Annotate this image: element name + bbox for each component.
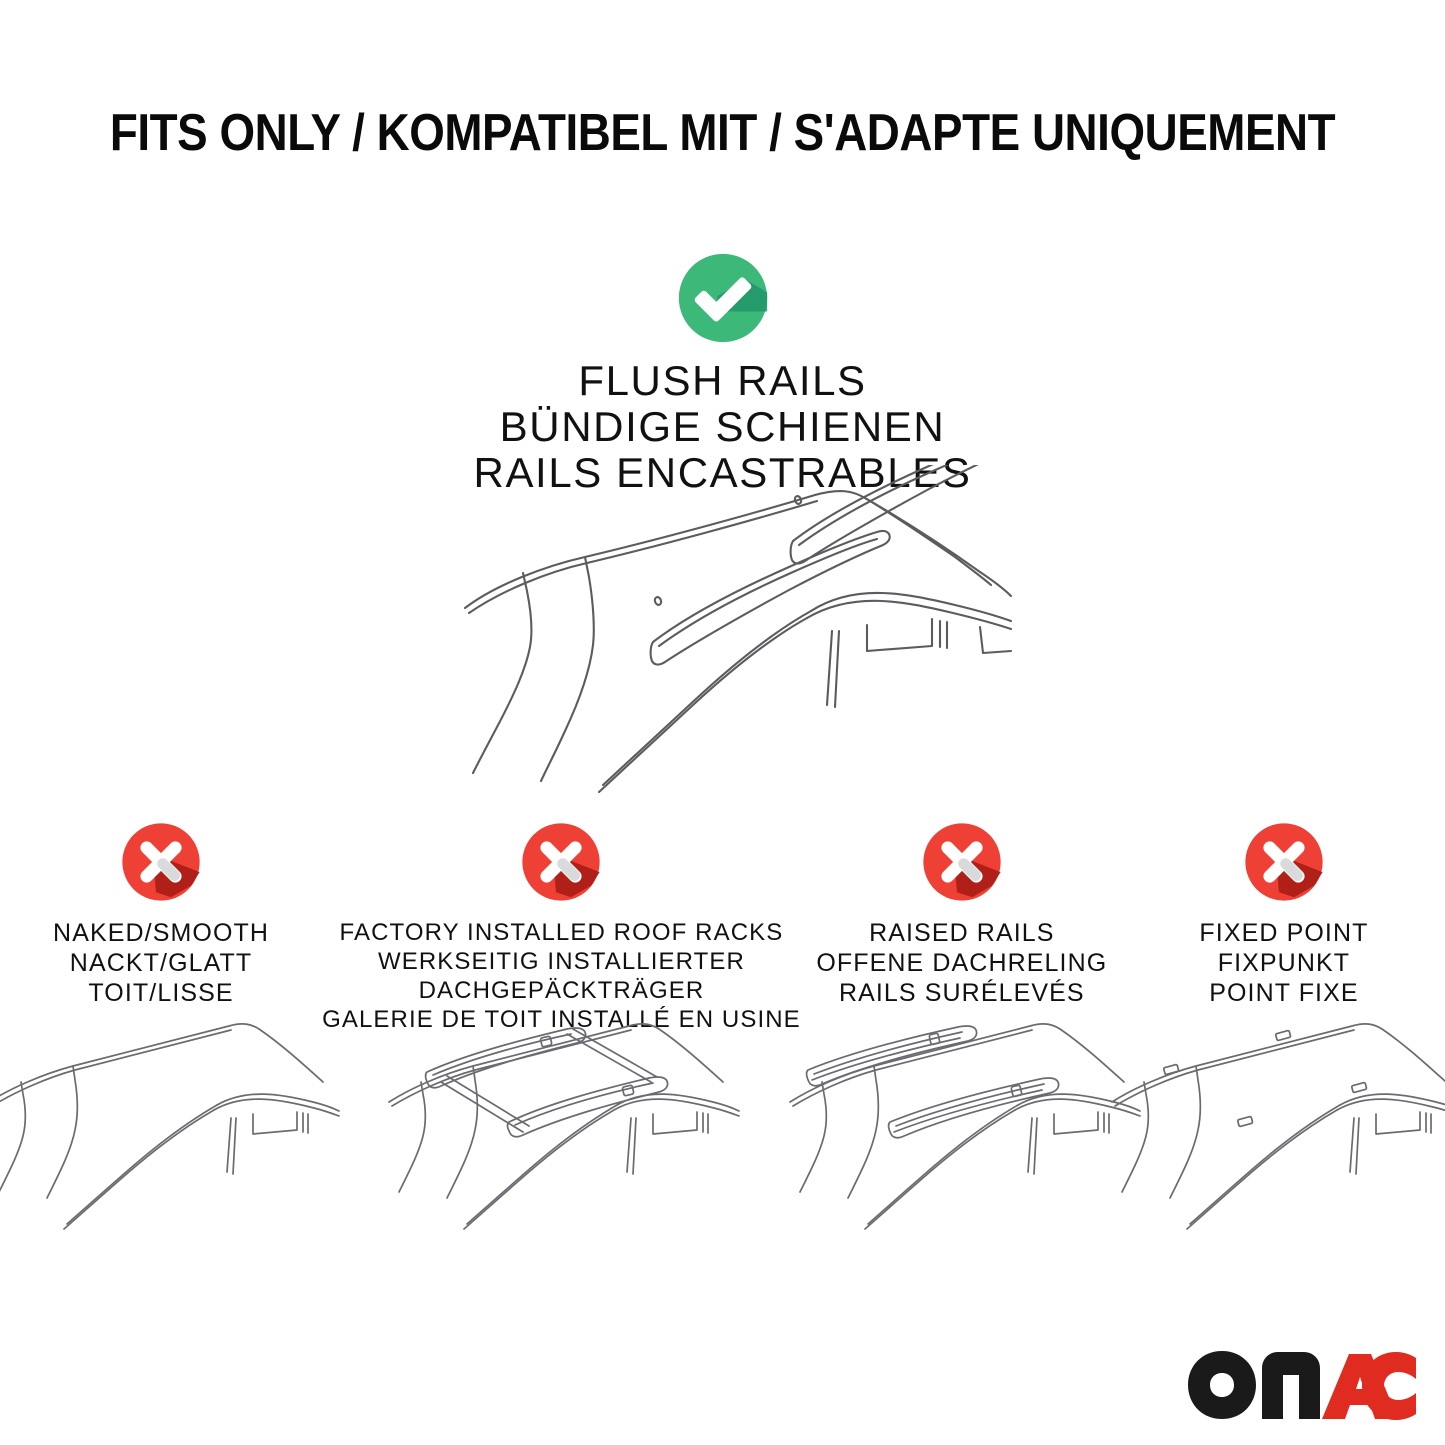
option-labels: RAISED RAILS OFFENE DACHRELING RAILS SUR… bbox=[816, 918, 1107, 1008]
option-raised-rails: RAISED RAILS OFFENE DACHRELING RAILS SUR… bbox=[801, 820, 1123, 1008]
compatible-label-en: FLUSH RAILS bbox=[0, 358, 1445, 404]
omac-logo bbox=[1186, 1348, 1418, 1422]
page-title: FITS ONLY / KOMPATIBEL MIT / S'ADAPTE UN… bbox=[87, 103, 1359, 163]
option-factory-roof-racks: FACTORY INSTALLED ROOF RACKS WERKSEITIG … bbox=[322, 820, 801, 1034]
option-label-en: FACTORY INSTALLED ROOF RACKS bbox=[322, 918, 801, 947]
option-fixed-point: FIXED POINT FIXPUNKT POINT FIXE bbox=[1123, 820, 1445, 1008]
x-circle-icon bbox=[920, 820, 1004, 904]
option-label-en: FIXED POINT bbox=[1199, 918, 1368, 948]
car-roof-fixed-point-illustration bbox=[1104, 1010, 1445, 1240]
option-label-en: RAISED RAILS bbox=[816, 918, 1107, 948]
x-circle-icon bbox=[1242, 820, 1326, 904]
car-roof-raised-rails-illustration bbox=[782, 1010, 1142, 1240]
option-label-fr: POINT FIXE bbox=[1199, 978, 1368, 1008]
car-roof-flush-rails-illustration bbox=[435, 465, 1015, 795]
option-label-de: OFFENE DACHRELING bbox=[816, 948, 1107, 978]
option-label-de-2: DACHGEPÄCKTRÄGER bbox=[322, 976, 801, 1005]
x-circle-icon bbox=[119, 820, 203, 904]
check-circle-icon bbox=[675, 250, 771, 346]
compatible-section: FLUSH RAILS BÜNDIGE SCHIENEN RAILS ENCAS… bbox=[0, 250, 1445, 496]
logo-letter-o bbox=[1188, 1351, 1256, 1419]
incompatible-options-row: NAKED/SMOOTH NACKT/GLATT TOIT/LISSE bbox=[0, 820, 1445, 1034]
logo-letter-m bbox=[1262, 1352, 1320, 1419]
option-label-de: FIXPUNKT bbox=[1199, 948, 1368, 978]
car-roof-factory-racks-illustration bbox=[381, 1010, 741, 1240]
option-label-en: NAKED/SMOOTH bbox=[53, 918, 269, 948]
option-label-fr: TOIT/LISSE bbox=[53, 978, 269, 1008]
option-label-de: NACKT/GLATT bbox=[53, 948, 269, 978]
option-label-fr: RAILS SURÉLEVÉS bbox=[816, 978, 1107, 1008]
option-naked-smooth: NAKED/SMOOTH NACKT/GLATT TOIT/LISSE bbox=[0, 820, 322, 1008]
option-label-de-1: WERKSEITIG INSTALLIERTER bbox=[322, 947, 801, 976]
option-labels: FIXED POINT FIXPUNKT POINT FIXE bbox=[1199, 918, 1368, 1008]
compatible-label-de: BÜNDIGE SCHIENEN bbox=[0, 404, 1445, 450]
car-roof-naked-smooth-illustration bbox=[0, 1010, 341, 1240]
option-labels: NAKED/SMOOTH NACKT/GLATT TOIT/LISSE bbox=[53, 918, 269, 1008]
x-circle-icon bbox=[519, 820, 603, 904]
